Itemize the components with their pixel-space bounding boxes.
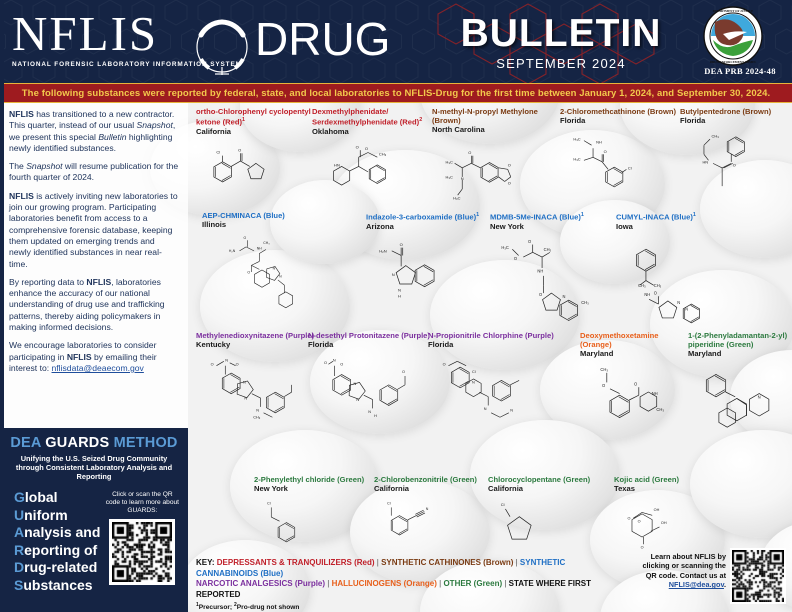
substance-name: AEP-CHMINACA (Blue): [202, 211, 326, 220]
chemical-structure-n-propionitrile-chlorphine: O Cl N N N: [428, 351, 556, 448]
substance-state: Maryland: [580, 349, 686, 358]
svg-text:NH: NH: [652, 391, 658, 396]
guards-word-2: Uniform: [14, 507, 105, 525]
svg-text:N: N: [426, 507, 429, 511]
legend-footnote: 1Precursor; 2Pro-drug not shown: [196, 602, 616, 611]
substance-name: Chlorocyclopentane (Green): [488, 475, 612, 484]
substance-card-11: N-desethyl Protonitazene (Purple)Florida…: [308, 331, 432, 448]
sidebar-paragraph-3: NFLIS is actively inviting new laborator…: [9, 191, 179, 270]
substance-name: 1-(2-Phenyladamantan-2-yl) piperidine (G…: [688, 331, 792, 349]
sidebar-paragraph-4: By reporting data to NFLIS, laboratories…: [9, 277, 179, 333]
substance-card-13: Deoxymethoxetamine (Orange)Maryland CH₃O…: [580, 331, 686, 453]
substance-card-7: Indazole-3-carboxamide (Blue)1Arizona H₂…: [366, 211, 494, 323]
guards-title: DEA GUARDS METHOD: [8, 435, 180, 452]
substance-card-18: Kojic acid (Green)Texas OOH O OH O: [614, 475, 724, 558]
chemical-structure-2-chloromethcathinone: H₃CNH H₃C O Cl: [560, 127, 680, 204]
chemical-structure-aep-chminaca: H₂NO NHCH₃ O NN: [202, 231, 326, 322]
substance-state: California: [488, 484, 612, 493]
substance-state: Arizona: [366, 222, 494, 231]
substance-card-4: 2-Chloromethcathinone (Brown)Florida H₃C…: [560, 107, 680, 204]
sidebar-paragraph-2: The Snapshot will resume publication for…: [9, 161, 179, 184]
svg-text:N: N: [356, 398, 359, 402]
svg-text:O: O: [468, 150, 471, 155]
substance-card-17: Chlorocyclopentane (Green)California Cl: [488, 475, 612, 562]
substance-state: Maryland: [688, 349, 792, 358]
substance-name: N-Propionitrile Chlorphine (Purple): [428, 331, 556, 340]
svg-text:CH₃: CH₃: [581, 300, 589, 305]
substance-card-8: MDMB-5Me-INACA (Blue)1New York H₃CO O CH…: [490, 211, 622, 331]
svg-text:N: N: [484, 406, 487, 410]
svg-text:O: O: [340, 362, 343, 366]
svg-text:Cl: Cl: [501, 501, 505, 506]
substance-card-2: Dexmethylphenidate/ Serdexmethylphenidat…: [312, 107, 440, 204]
chemical-structure-deoxymethoxetamine: CH₃O O NHCH₃: [580, 360, 686, 453]
chemical-structure-n-desethyl-protonitazene: ONO NN NH O: [308, 351, 432, 448]
svg-text:N: N: [398, 288, 401, 293]
substance-name: Butylpentedrone (Brown): [680, 107, 792, 116]
substance-name: 2-Phenylethyl chloride (Green): [254, 475, 378, 484]
svg-text:NH: NH: [596, 139, 602, 144]
svg-text:Cl: Cl: [472, 370, 476, 374]
svg-text:O: O: [539, 292, 542, 297]
guards-subtitle: Unifying the U.S. Seized Drug Community …: [8, 454, 180, 481]
page-header: NFLIS NATIONAL FORENSIC LABORATORY INFOR…: [0, 0, 792, 83]
banner-text: The following substances were reported b…: [22, 88, 770, 99]
svg-text:O: O: [628, 516, 631, 520]
svg-text:CH₃: CH₃: [600, 367, 608, 372]
substance-name: Methylenedioxynitazene (Purple): [196, 331, 320, 340]
svg-text:O: O: [528, 239, 531, 244]
svg-text:H₂N: H₂N: [229, 249, 236, 253]
svg-text:O: O: [508, 180, 511, 185]
svg-text:OH: OH: [661, 521, 667, 525]
nflis-dea-email-link[interactable]: NFLIS@dea.gov: [669, 580, 724, 589]
svg-text:O: O: [733, 162, 736, 167]
svg-text:O: O: [443, 362, 446, 366]
substance-card-10: Methylenedioxynitazene (Purple)Kentucky …: [196, 331, 320, 448]
svg-text:O: O: [654, 291, 657, 296]
svg-text:H₃C: H₃C: [573, 136, 580, 141]
substance-name: N-methyl-N-propyl Methylone (Brown): [432, 107, 560, 125]
chemical-structure-2-phenylethyl-chloride: Cl: [254, 495, 378, 562]
bulletin-page: NFLIS NATIONAL FORENSIC LABORATORY INFOR…: [0, 0, 792, 612]
svg-text:O: O: [402, 370, 405, 374]
svg-text:N: N: [368, 409, 371, 413]
svg-text:N: N: [279, 274, 282, 278]
substance-name: Kojic acid (Green): [614, 475, 724, 484]
substance-card-16: 2-Chlorobenzonitrile (Green)California C…: [374, 475, 494, 562]
chemical-structure-cumyl-inaca: CH₃CH₃ NHO NN: [616, 232, 746, 331]
chemical-structure-methylenedioxynitazene: ONO NN N CH₃: [196, 351, 320, 448]
substance-state: Florida: [560, 116, 680, 125]
guards-word-1: Global: [14, 489, 105, 507]
svg-text:H₃C: H₃C: [446, 174, 453, 179]
svg-text:N: N: [337, 163, 340, 168]
substance-state: Florida: [308, 340, 432, 349]
substance-name: Dexmethylphenidate/ Serdexmethylphenidat…: [312, 107, 440, 127]
legend-key: KEY: DEPRESSANTS & TRANQUILIZERS (Red) |…: [196, 558, 616, 611]
svg-text:O: O: [236, 362, 239, 366]
svg-text:O: O: [638, 519, 641, 523]
svg-text:CH₃: CH₃: [654, 283, 662, 288]
svg-text:CH₃: CH₃: [544, 247, 552, 252]
svg-text:O: O: [243, 236, 246, 240]
nflis-letters: NFLIS: [12, 8, 158, 60]
guards-word-5: Drug-related: [14, 559, 105, 577]
svg-text:N: N: [333, 358, 336, 362]
svg-text:CH₃: CH₃: [712, 133, 720, 138]
svg-text:H₂N: H₂N: [379, 248, 386, 253]
svg-text:O: O: [604, 148, 607, 153]
drug-wordmark: DRUG: [255, 12, 390, 66]
substance-state: New York: [254, 484, 378, 493]
svg-text:O: O: [365, 147, 368, 152]
svg-text:O: O: [400, 242, 403, 247]
substance-card-9: CUMYL-INACA (Blue)1Iowa CH₃CH₃ NHO NN: [616, 211, 746, 331]
substance-state: Texas: [614, 484, 724, 493]
svg-text:H₃C: H₃C: [446, 159, 453, 164]
svg-text:H₃C: H₃C: [501, 245, 509, 250]
chemical-structure-ortho-chlorophenyl-cyclopentyl-ketone: Cl O: [196, 137, 314, 204]
svg-text:H₃C: H₃C: [573, 156, 580, 161]
substance-state: Iowa: [616, 222, 746, 231]
svg-text:O: O: [356, 145, 359, 150]
svg-text:DEPARTMENT OF JUSTICE: DEPARTMENT OF JUSTICE: [713, 9, 753, 13]
substance-card-3: N-methyl-N-propyl Methylone (Brown)North…: [432, 107, 560, 213]
svg-text:N: N: [225, 358, 228, 362]
substance-name: N-desethyl Protonitazene (Purple): [308, 331, 432, 340]
svg-text:O: O: [602, 383, 606, 388]
substance-name: CUMYL-INACA (Blue)1: [616, 211, 746, 222]
svg-text:O: O: [634, 381, 638, 386]
substance-state: North Carolina: [432, 125, 560, 134]
svg-text:O: O: [238, 148, 241, 153]
substance-state: Illinois: [202, 220, 326, 229]
svg-text:CH₃: CH₃: [263, 241, 270, 245]
substance-name: MDMB-5Me-INACA (Blue)1: [490, 211, 622, 222]
substance-state: California: [374, 484, 494, 493]
svg-text:N: N: [244, 396, 247, 400]
dea-seal-icon: DEPARTMENT OF JUSTICE DRUG ENFORCEMENT A…: [703, 6, 763, 66]
guards-qr-block[interactable]: Click or scan the QR code to learn more …: [105, 489, 180, 594]
svg-text:N: N: [677, 300, 680, 305]
sidebar-paragraph-1: NFLIS has transitioned to a new contract…: [9, 109, 179, 154]
legend-line-1: KEY: DEPRESSANTS & TRANQUILIZERS (Red) |…: [196, 558, 616, 579]
bulletin-title: BULLETIN: [450, 12, 672, 56]
guards-title-method: METHOD: [109, 435, 177, 451]
svg-text:H₃C: H₃C: [453, 195, 460, 200]
svg-text:CH₃: CH₃: [379, 152, 387, 157]
substance-card-14: 1-(2-Phenyladamantan-2-yl) piperidine (G…: [688, 331, 792, 453]
svg-text:N: N: [353, 381, 356, 385]
substance-card-15: 2-Phenylethyl chloride (Green)New York C…: [254, 475, 378, 562]
chemical-structure-dexmethylphenidate: HN O OCH₃: [312, 137, 440, 204]
legend-line-2: NARCOTIC ANALGESICS (Purple) | HALLUCINO…: [196, 579, 616, 600]
chemical-structure-phenyladamantan-piperidine: N: [688, 360, 792, 453]
substance-card-5: Butylpentedrone (Brown)Florida CH₃HN O: [680, 107, 792, 204]
svg-text:Cl: Cl: [628, 165, 632, 170]
substance-grid: ortho-Chlorophenyl cyclopentyl ketone (R…: [188, 103, 792, 612]
chemical-structure-mdmb-5me-inaca: H₃CO O CH₃ NH O N CH₃: [490, 232, 622, 331]
left-edge-stripe: [0, 0, 4, 612]
footer-qr-code[interactable]: [730, 548, 786, 604]
chemical-structure-n-methyl-n-propyl-methylone: H₃CH₃CN H₃C O OO: [432, 136, 560, 213]
announcement-banner: The following substances were reported b…: [0, 83, 792, 103]
guards-acronym-list: GlobalUniformAnalysis andReporting ofDru…: [8, 489, 105, 594]
substance-state: Florida: [680, 116, 792, 125]
guards-method-panel: DEA GUARDS METHOD Unifying the U.S. Seiz…: [0, 428, 188, 612]
svg-text:HN: HN: [702, 159, 708, 164]
chemical-structure-chlorocyclopentane: Cl: [488, 495, 612, 562]
svg-text:N: N: [562, 294, 565, 299]
svg-text:CH₃: CH₃: [656, 407, 664, 412]
svg-text:N: N: [758, 394, 761, 399]
substance-name: 2-Chlorobenzonitrile (Green): [374, 475, 494, 484]
guards-qr-caption: Click or scan the QR code to learn more …: [105, 491, 180, 515]
svg-text:NH: NH: [537, 269, 543, 274]
svg-text:N: N: [256, 408, 259, 412]
substance-state: Oklahoma: [312, 127, 440, 136]
svg-text:O: O: [211, 362, 214, 366]
sidebar-paragraph-5: We encourage laboratories to consider pa…: [9, 340, 179, 374]
chemical-structure-indazole-3-carboxamide: H₂NO NNH: [366, 232, 494, 323]
substance-name: 2-Chloromethcathinone (Brown): [560, 107, 680, 116]
footer-contact-text: Learn about NFLIS by clicking or scannin…: [630, 548, 726, 604]
bulletin-date: SEPTEMBER 2024: [450, 56, 672, 71]
substance-name: Deoxymethoxetamine (Orange): [580, 331, 686, 349]
guards-qr-code[interactable]: [109, 519, 175, 585]
svg-text:N: N: [243, 380, 246, 384]
nflis-ring-logo-icon: [193, 18, 251, 76]
svg-text:O: O: [508, 162, 511, 167]
chemical-structure-2-chlorobenzonitrile: Cl N: [374, 495, 494, 562]
svg-text:O: O: [324, 361, 327, 365]
chemical-structure-butylpentedrone: CH₃HN O: [680, 127, 792, 204]
svg-text:OH: OH: [654, 508, 660, 512]
substance-state: New York: [490, 222, 622, 231]
substance-card-12: N-Propionitrile Chlorphine (Purple)Flori…: [428, 331, 556, 448]
guards-word-4: Reporting of: [14, 542, 105, 560]
guards-title-dea: DEA: [10, 435, 45, 451]
substance-state: California: [196, 127, 314, 136]
svg-text:Cl: Cl: [387, 501, 391, 505]
footer-contact: Learn about NFLIS by clicking or scannin…: [630, 548, 788, 604]
substance-name: ortho-Chlorophenyl cyclopentyl ketone (R…: [196, 107, 314, 127]
substance-state: Florida: [428, 340, 556, 349]
svg-text:DRUG ENFORCEMENT ADMIN.: DRUG ENFORCEMENT ADMIN.: [710, 60, 757, 64]
svg-text:N: N: [392, 272, 395, 277]
svg-text:NH: NH: [644, 292, 650, 297]
guards-body: GlobalUniformAnalysis andReporting ofDru…: [8, 489, 180, 594]
svg-text:O: O: [247, 270, 250, 274]
substance-card-1: ortho-Chlorophenyl cyclopentyl ketone (R…: [196, 107, 314, 204]
svg-text:Cl: Cl: [216, 150, 220, 155]
substance-state: Kentucky: [196, 340, 320, 349]
substance-name: Indazole-3-carboxamide (Blue)1: [366, 211, 494, 222]
svg-text:N: N: [472, 380, 475, 384]
svg-text:O: O: [514, 256, 517, 261]
svg-text:H: H: [398, 294, 401, 299]
svg-text:CH₃: CH₃: [253, 415, 261, 419]
seal-label: DEA PRB 2024-48: [690, 66, 790, 76]
substance-card-6: AEP-CHMINACA (Blue)Illinois H₂NO NHCH₃ O…: [202, 211, 326, 322]
svg-text:Cl: Cl: [267, 501, 271, 505]
svg-text:H: H: [374, 414, 377, 418]
svg-text:N: N: [510, 408, 513, 412]
guards-word-6: Substances: [14, 577, 105, 595]
guards-word-3: Analysis and: [14, 524, 105, 542]
nflis-email-link[interactable]: nflisdata@deaecom.gov: [52, 363, 144, 373]
svg-text:NH: NH: [257, 246, 262, 250]
guards-title-guards: GUARDS: [45, 435, 109, 451]
